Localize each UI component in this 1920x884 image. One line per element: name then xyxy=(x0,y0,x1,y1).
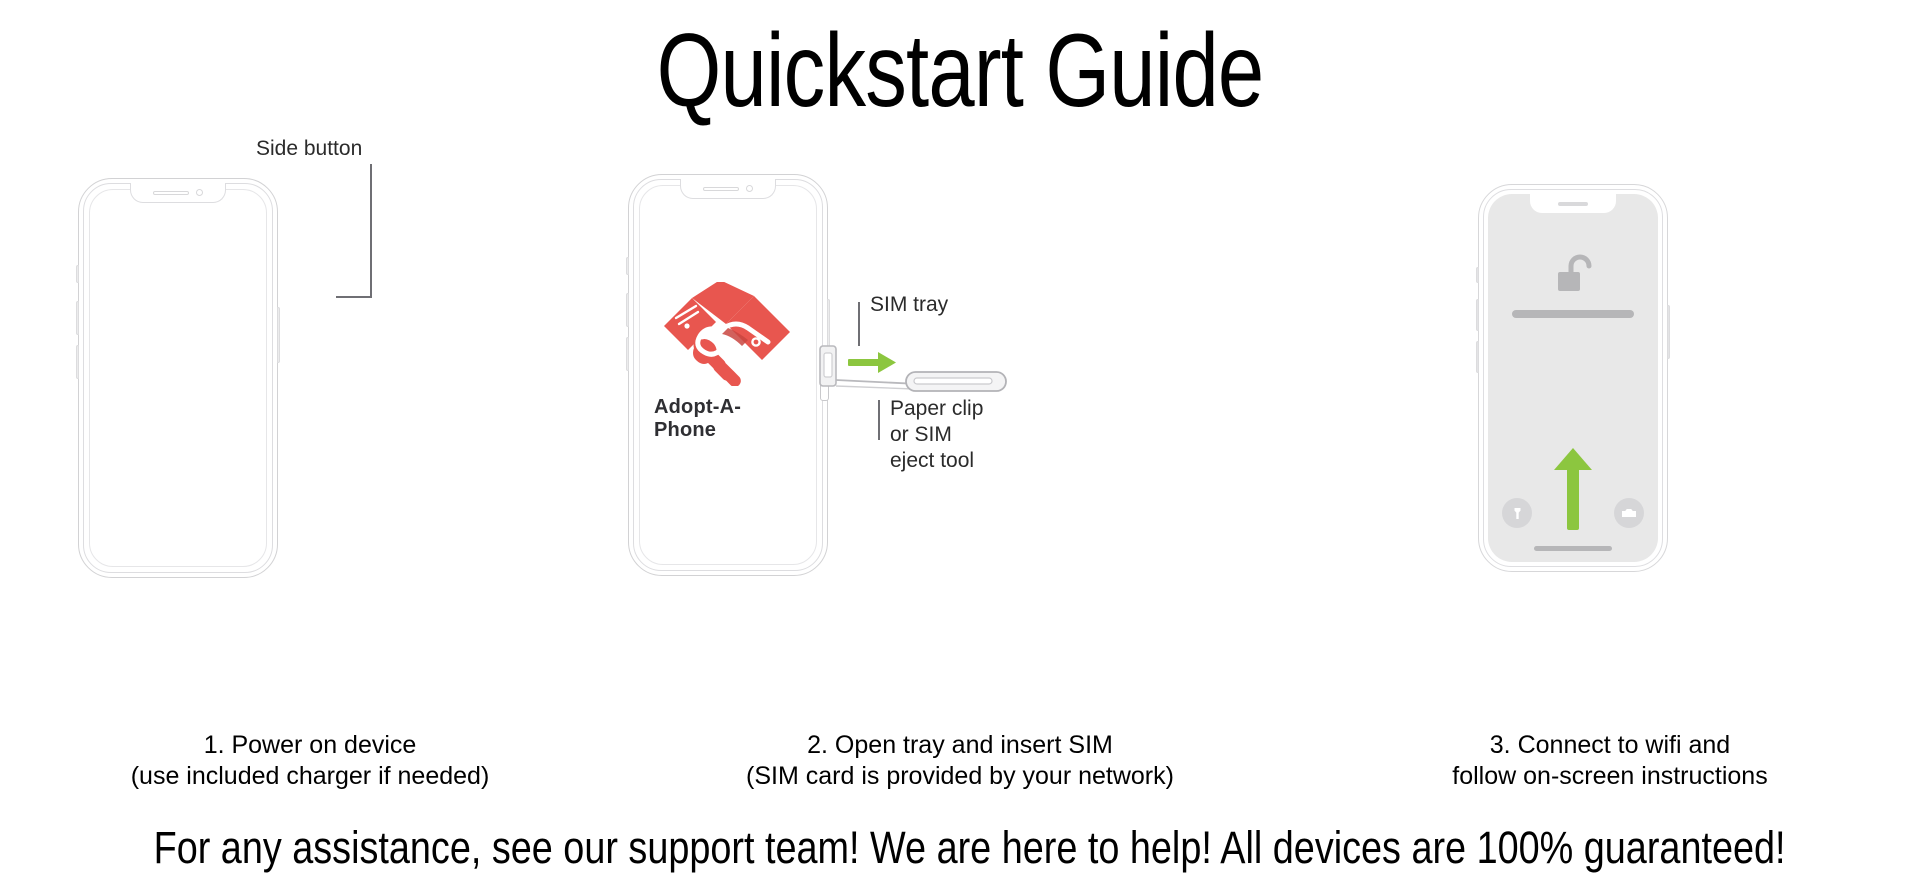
earpiece-speaker-icon xyxy=(153,191,189,195)
mute-switch[interactable] xyxy=(626,257,629,275)
volume-down-button[interactable] xyxy=(1476,341,1479,373)
page-title: Quickstart Guide xyxy=(192,14,1728,128)
paper-clip-icon xyxy=(906,372,1006,391)
step-3-column: 3. Connect to wifi and follow on-screen … xyxy=(1330,150,1890,580)
earpiece-speaker-icon xyxy=(703,187,739,191)
phone-1-notch xyxy=(130,183,226,203)
phone-3-bezel xyxy=(1483,189,1663,567)
volume-down-button[interactable] xyxy=(76,345,79,379)
insert-direction-arrow-icon xyxy=(848,352,896,373)
home-indicator[interactable] xyxy=(1534,546,1612,551)
unlock-icon xyxy=(1550,252,1596,298)
front-camera-icon xyxy=(746,185,753,192)
logo-wordmark: Adopt-A-Phone xyxy=(654,396,802,442)
side-button[interactable] xyxy=(1667,305,1670,359)
step-1-caption: 1. Power on device (use included charger… xyxy=(60,730,560,792)
phone-3-notch xyxy=(1530,194,1616,213)
sim-eject-tool-leader-line xyxy=(878,400,880,440)
sim-tray-annotation-label: SIM tray xyxy=(870,292,948,318)
step-3-caption: 3. Connect to wifi and follow on-screen … xyxy=(1330,730,1890,792)
swipe-up-arrow-icon xyxy=(1553,446,1593,534)
handshake-icon xyxy=(658,282,798,386)
sim-tray-window xyxy=(824,353,832,377)
sim-tray-leader-line xyxy=(858,302,860,346)
camera-button[interactable] xyxy=(1614,498,1644,528)
phone-1-screen xyxy=(89,189,267,567)
step-2-column: SIM tray Paper clip or SIM eject tool xyxy=(610,150,1310,580)
step-2-illustration: SIM tray Paper clip or SIM eject tool xyxy=(610,150,1310,580)
sim-eject-tool-annotation-label: Paper clip or SIM eject tool xyxy=(890,396,983,474)
volume-up-button[interactable] xyxy=(1476,299,1479,331)
volume-up-button[interactable] xyxy=(76,301,79,335)
side-button-leader-horizontal xyxy=(336,296,372,298)
adopt-a-phone-logo: Adopt-A-Phone xyxy=(654,282,802,442)
support-footer-text: For any assistance, see our support team… xyxy=(154,823,1767,873)
earpiece-speaker-icon xyxy=(1558,202,1588,206)
step-1-illustration: Side button xyxy=(60,150,560,580)
step-1-column: Side button 1. Power on xyxy=(60,150,560,580)
quickstart-guide-page: Quickstart Guide Side button xyxy=(0,0,1920,884)
front-camera-icon xyxy=(196,189,203,196)
phone-3-body xyxy=(1478,184,1668,572)
step-2-caption: 2. Open tray and insert SIM (SIM card is… xyxy=(610,730,1310,792)
volume-down-button[interactable] xyxy=(626,337,629,371)
mute-switch[interactable] xyxy=(1476,267,1479,283)
side-button-leader-vertical xyxy=(370,164,372,297)
volume-up-button[interactable] xyxy=(626,293,629,327)
flashlight-icon xyxy=(1510,506,1525,521)
flashlight-button[interactable] xyxy=(1502,498,1532,528)
camera-icon xyxy=(1621,506,1637,520)
phone-2-notch xyxy=(680,179,776,199)
step-3-illustration xyxy=(1330,150,1890,580)
phone-1-bezel xyxy=(83,183,273,573)
side-button-annotation-label: Side button xyxy=(256,136,362,162)
phone-1-body xyxy=(78,178,278,578)
passcode-slider-bar[interactable] xyxy=(1512,310,1634,318)
mute-switch[interactable] xyxy=(76,265,79,283)
side-button[interactable] xyxy=(277,307,280,363)
phone-3-screen[interactable] xyxy=(1488,194,1658,562)
